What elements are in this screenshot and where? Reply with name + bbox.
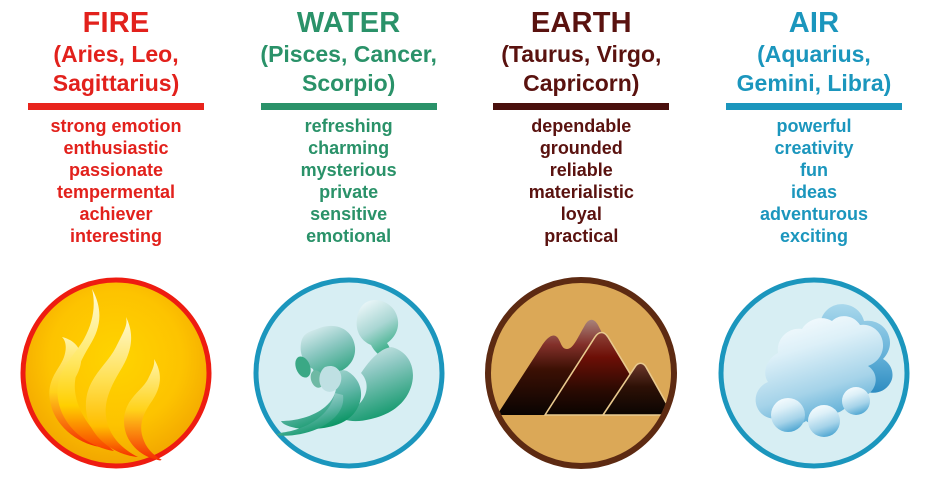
fire-element-name: FIRE [0,6,232,40]
air-badge [716,275,912,471]
air-trait: ideas [698,181,930,203]
earth-trait: grounded [465,137,697,159]
air-traits-list: powerful creativity fun ideas adventurou… [698,115,930,247]
earth-trait: practical [465,225,697,247]
earth-badge [483,275,679,471]
fire-divider [28,103,204,110]
element-column-fire: FIRE (Aries, Leo, Sagittarius) strong em… [0,0,232,486]
fire-badge [18,275,214,471]
water-element-name: WATER [233,6,465,40]
air-trait: creativity [698,137,930,159]
element-column-water: WATER (Pisces, Cancer, Scorpio) refreshi… [233,0,465,486]
water-trait: charming [233,137,465,159]
air-signs-line-1: (Aquarius, [698,40,930,69]
water-wave-icon [251,275,447,471]
water-signs-line-2: Scorpio) [233,69,465,98]
water-trait: mysterious [233,159,465,181]
element-column-earth: EARTH (Taurus, Virgo, Capricorn) dependa… [465,0,697,486]
flame-icon [18,275,214,471]
water-trait: refreshing [233,115,465,137]
fire-signs-line-1: (Aries, Leo, [0,40,232,69]
earth-signs-line-1: (Taurus, Virgo, [465,40,697,69]
earth-signs-line-2: Capricorn) [465,69,697,98]
air-trait: fun [698,159,930,181]
earth-element-name: EARTH [465,6,697,40]
air-divider [726,103,902,110]
cloud-icon [716,275,912,471]
earth-divider [493,103,669,110]
four-elements-infographic: FIRE (Aries, Leo, Sagittarius) strong em… [0,0,930,486]
mountain-icon [483,275,679,471]
earth-traits-list: dependable grounded reliable materialist… [465,115,697,247]
fire-trait: tempermental [0,181,232,203]
air-element-name: AIR [698,6,930,40]
water-trait: private [233,181,465,203]
fire-trait: interesting [0,225,232,247]
fire-trait: passionate [0,159,232,181]
fire-traits-list: strong emotion enthusiastic passionate t… [0,115,232,247]
water-divider [261,103,437,110]
earth-trait: dependable [465,115,697,137]
air-signs-line-2: Gemini, Libra) [698,69,930,98]
water-trait: emotional [233,225,465,247]
fire-trait: achiever [0,203,232,225]
water-heading-block: WATER (Pisces, Cancer, Scorpio) [233,0,465,98]
air-heading-block: AIR (Aquarius, Gemini, Libra) [698,0,930,98]
air-trait: powerful [698,115,930,137]
earth-trait: reliable [465,159,697,181]
water-trait: sensitive [233,203,465,225]
fire-trait: enthusiastic [0,137,232,159]
earth-heading-block: EARTH (Taurus, Virgo, Capricorn) [465,0,697,98]
fire-heading-block: FIRE (Aries, Leo, Sagittarius) [0,0,232,98]
water-badge [251,275,447,471]
water-signs-line-1: (Pisces, Cancer, [233,40,465,69]
earth-trait: loyal [465,203,697,225]
fire-signs-line-2: Sagittarius) [0,69,232,98]
water-traits-list: refreshing charming mysterious private s… [233,115,465,247]
element-column-air: AIR (Aquarius, Gemini, Libra) powerful c… [698,0,930,486]
air-trait: adventurous [698,203,930,225]
air-trait: exciting [698,225,930,247]
fire-trait: strong emotion [0,115,232,137]
earth-trait: materialistic [465,181,697,203]
